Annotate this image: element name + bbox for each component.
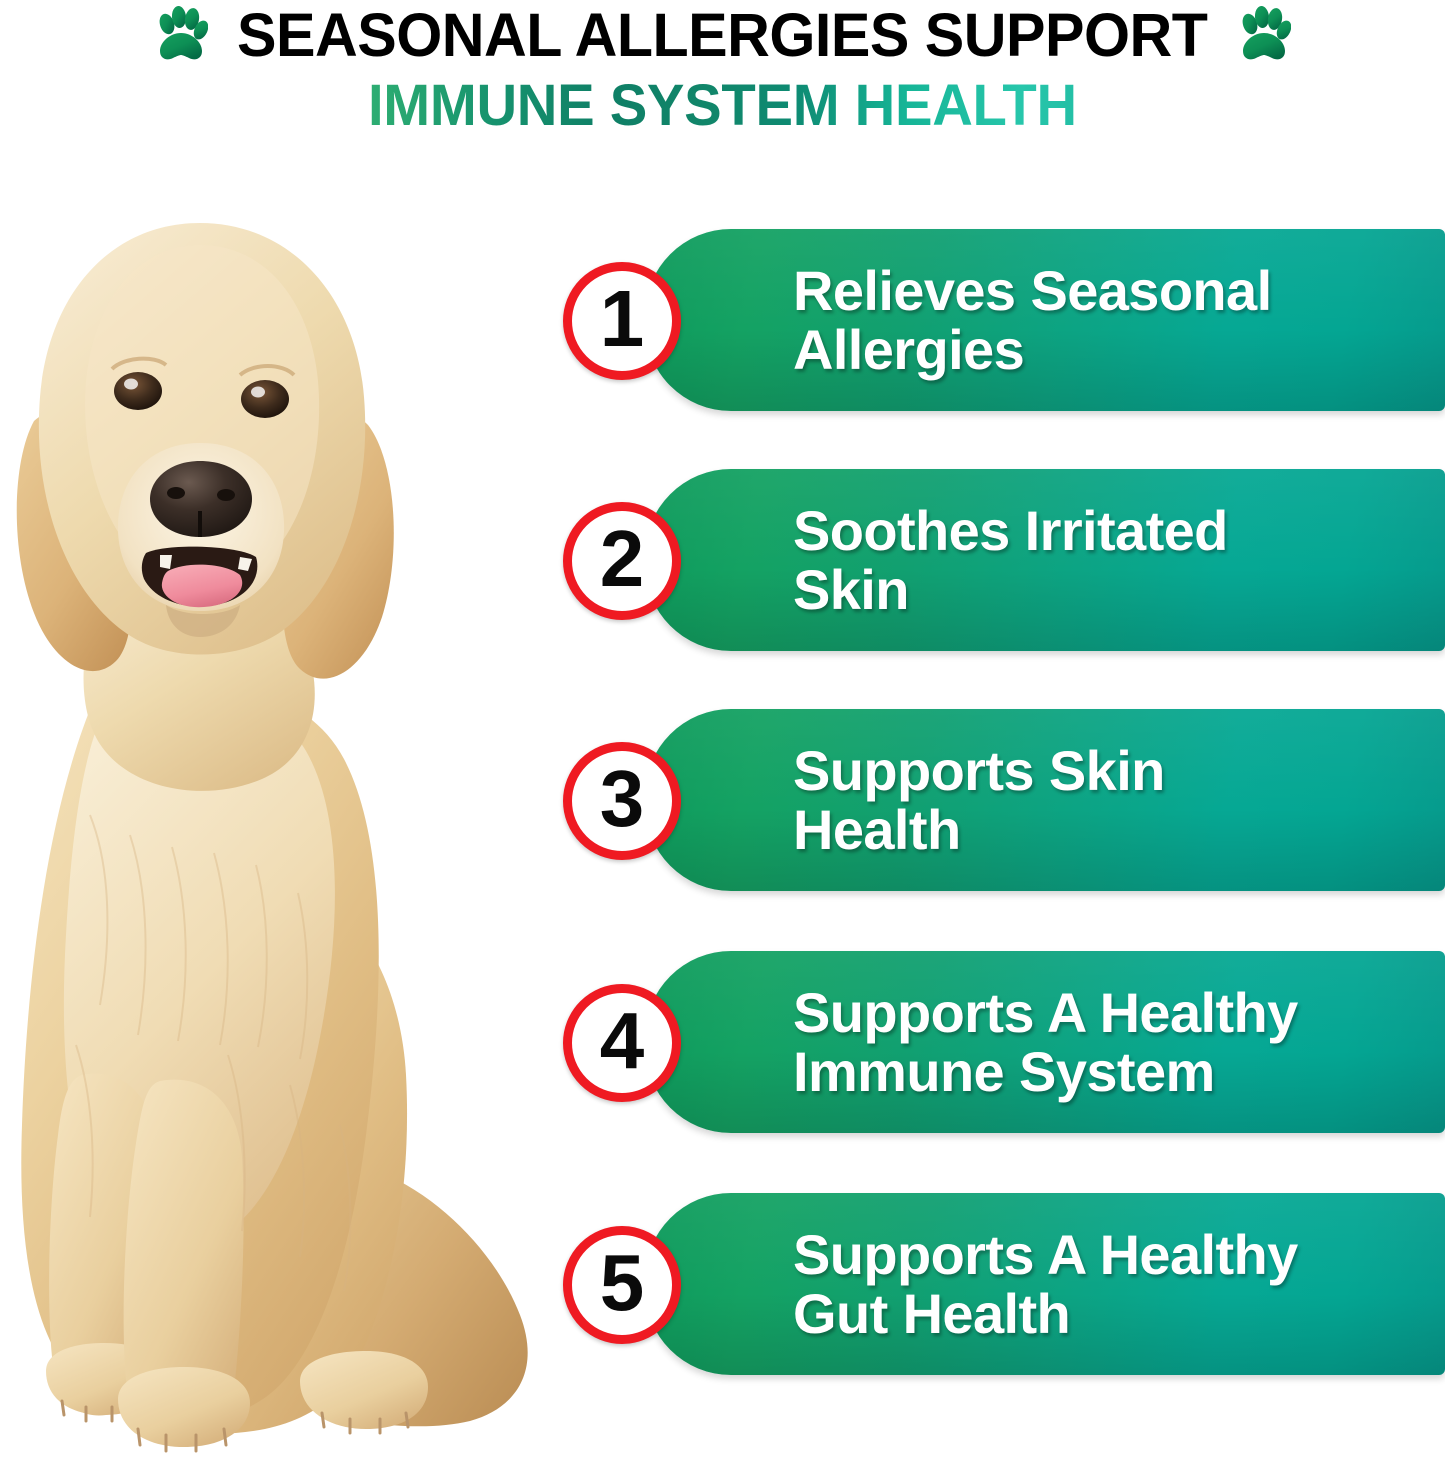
benefit-number-badge: 5 <box>563 1226 681 1344</box>
infographic-page: SEASONAL ALLERGIES SUPPORT <box>0 0 1445 1472</box>
benefit-line-1: Supports A Healthy <box>793 983 1433 1042</box>
benefit-number-badge: 3 <box>563 742 681 860</box>
benefit-item[interactable]: Soothes Irritated Skin 2 <box>555 459 1445 659</box>
benefit-number: 3 <box>600 759 645 839</box>
dog-paw-rear <box>300 1351 428 1429</box>
benefit-item[interactable]: Supports A Healthy Gut Health 5 <box>555 1183 1445 1383</box>
paw-print-icon <box>154 6 208 64</box>
benefit-line-2: Gut Health <box>793 1284 1433 1343</box>
page-subtitle: IMMUNE SYSTEM HEALTH <box>368 76 1077 135</box>
dog-eye-left-highlight <box>124 379 138 390</box>
title-row: SEASONAL ALLERGIES SUPPORT <box>0 2 1445 68</box>
benefits-list: Relieves Seasonal Allergies 1 Soothes Ir… <box>555 205 1445 1455</box>
benefit-text: Supports A Healthy Gut Health <box>793 1193 1433 1375</box>
header: SEASONAL ALLERGIES SUPPORT <box>0 0 1445 165</box>
benefit-number: 1 <box>600 279 645 359</box>
benefit-number-badge: 1 <box>563 262 681 380</box>
dog-eye-right <box>241 380 289 418</box>
benefit-number-badge: 4 <box>563 984 681 1102</box>
benefit-item[interactable]: Supports A Healthy Immune System 4 <box>555 941 1445 1141</box>
benefit-line-2: Skin <box>793 560 1433 619</box>
dog-eye-left <box>114 372 162 410</box>
benefit-text: Supports A Healthy Immune System <box>793 951 1433 1133</box>
benefit-item[interactable]: Supports Skin Health 3 <box>555 699 1445 899</box>
dog-nostril-right <box>217 489 235 501</box>
dog-nostril-left <box>167 487 185 499</box>
benefit-bar: Relieves Seasonal Allergies <box>645 229 1445 411</box>
benefit-text: Supports Skin Health <box>793 709 1433 891</box>
benefit-line-1: Supports Skin <box>793 741 1433 800</box>
benefit-line-1: Supports A Healthy <box>793 1225 1433 1284</box>
benefit-number: 2 <box>600 519 645 599</box>
dog-eye-right-highlight <box>251 387 265 398</box>
subtitle-row: IMMUNE SYSTEM HEALTH <box>0 76 1445 135</box>
benefit-line-1: Relieves Seasonal <box>793 261 1433 320</box>
dog-tooth-left <box>160 555 172 569</box>
benefit-line-2: Health <box>793 800 1433 859</box>
benefit-bar: Supports Skin Health <box>645 709 1445 891</box>
paw-print-icon <box>1237 6 1291 64</box>
benefit-bar: Supports A Healthy Gut Health <box>645 1193 1445 1375</box>
benefit-text: Soothes Irritated Skin <box>793 469 1433 651</box>
benefit-item[interactable]: Relieves Seasonal Allergies 1 <box>555 219 1445 419</box>
benefit-bar: Soothes Irritated Skin <box>645 469 1445 651</box>
benefit-text: Relieves Seasonal Allergies <box>793 229 1433 411</box>
page-title: SEASONAL ALLERGIES SUPPORT <box>237 5 1207 66</box>
benefit-line-2: Allergies <box>793 320 1433 379</box>
benefit-number: 5 <box>600 1243 645 1323</box>
benefit-bar: Supports A Healthy Immune System <box>645 951 1445 1133</box>
benefit-number-badge: 2 <box>563 502 681 620</box>
benefit-line-1: Soothes Irritated <box>793 501 1433 560</box>
benefit-number: 4 <box>600 1001 645 1081</box>
benefit-line-2: Immune System <box>793 1042 1433 1101</box>
dog-photo <box>0 175 560 1472</box>
